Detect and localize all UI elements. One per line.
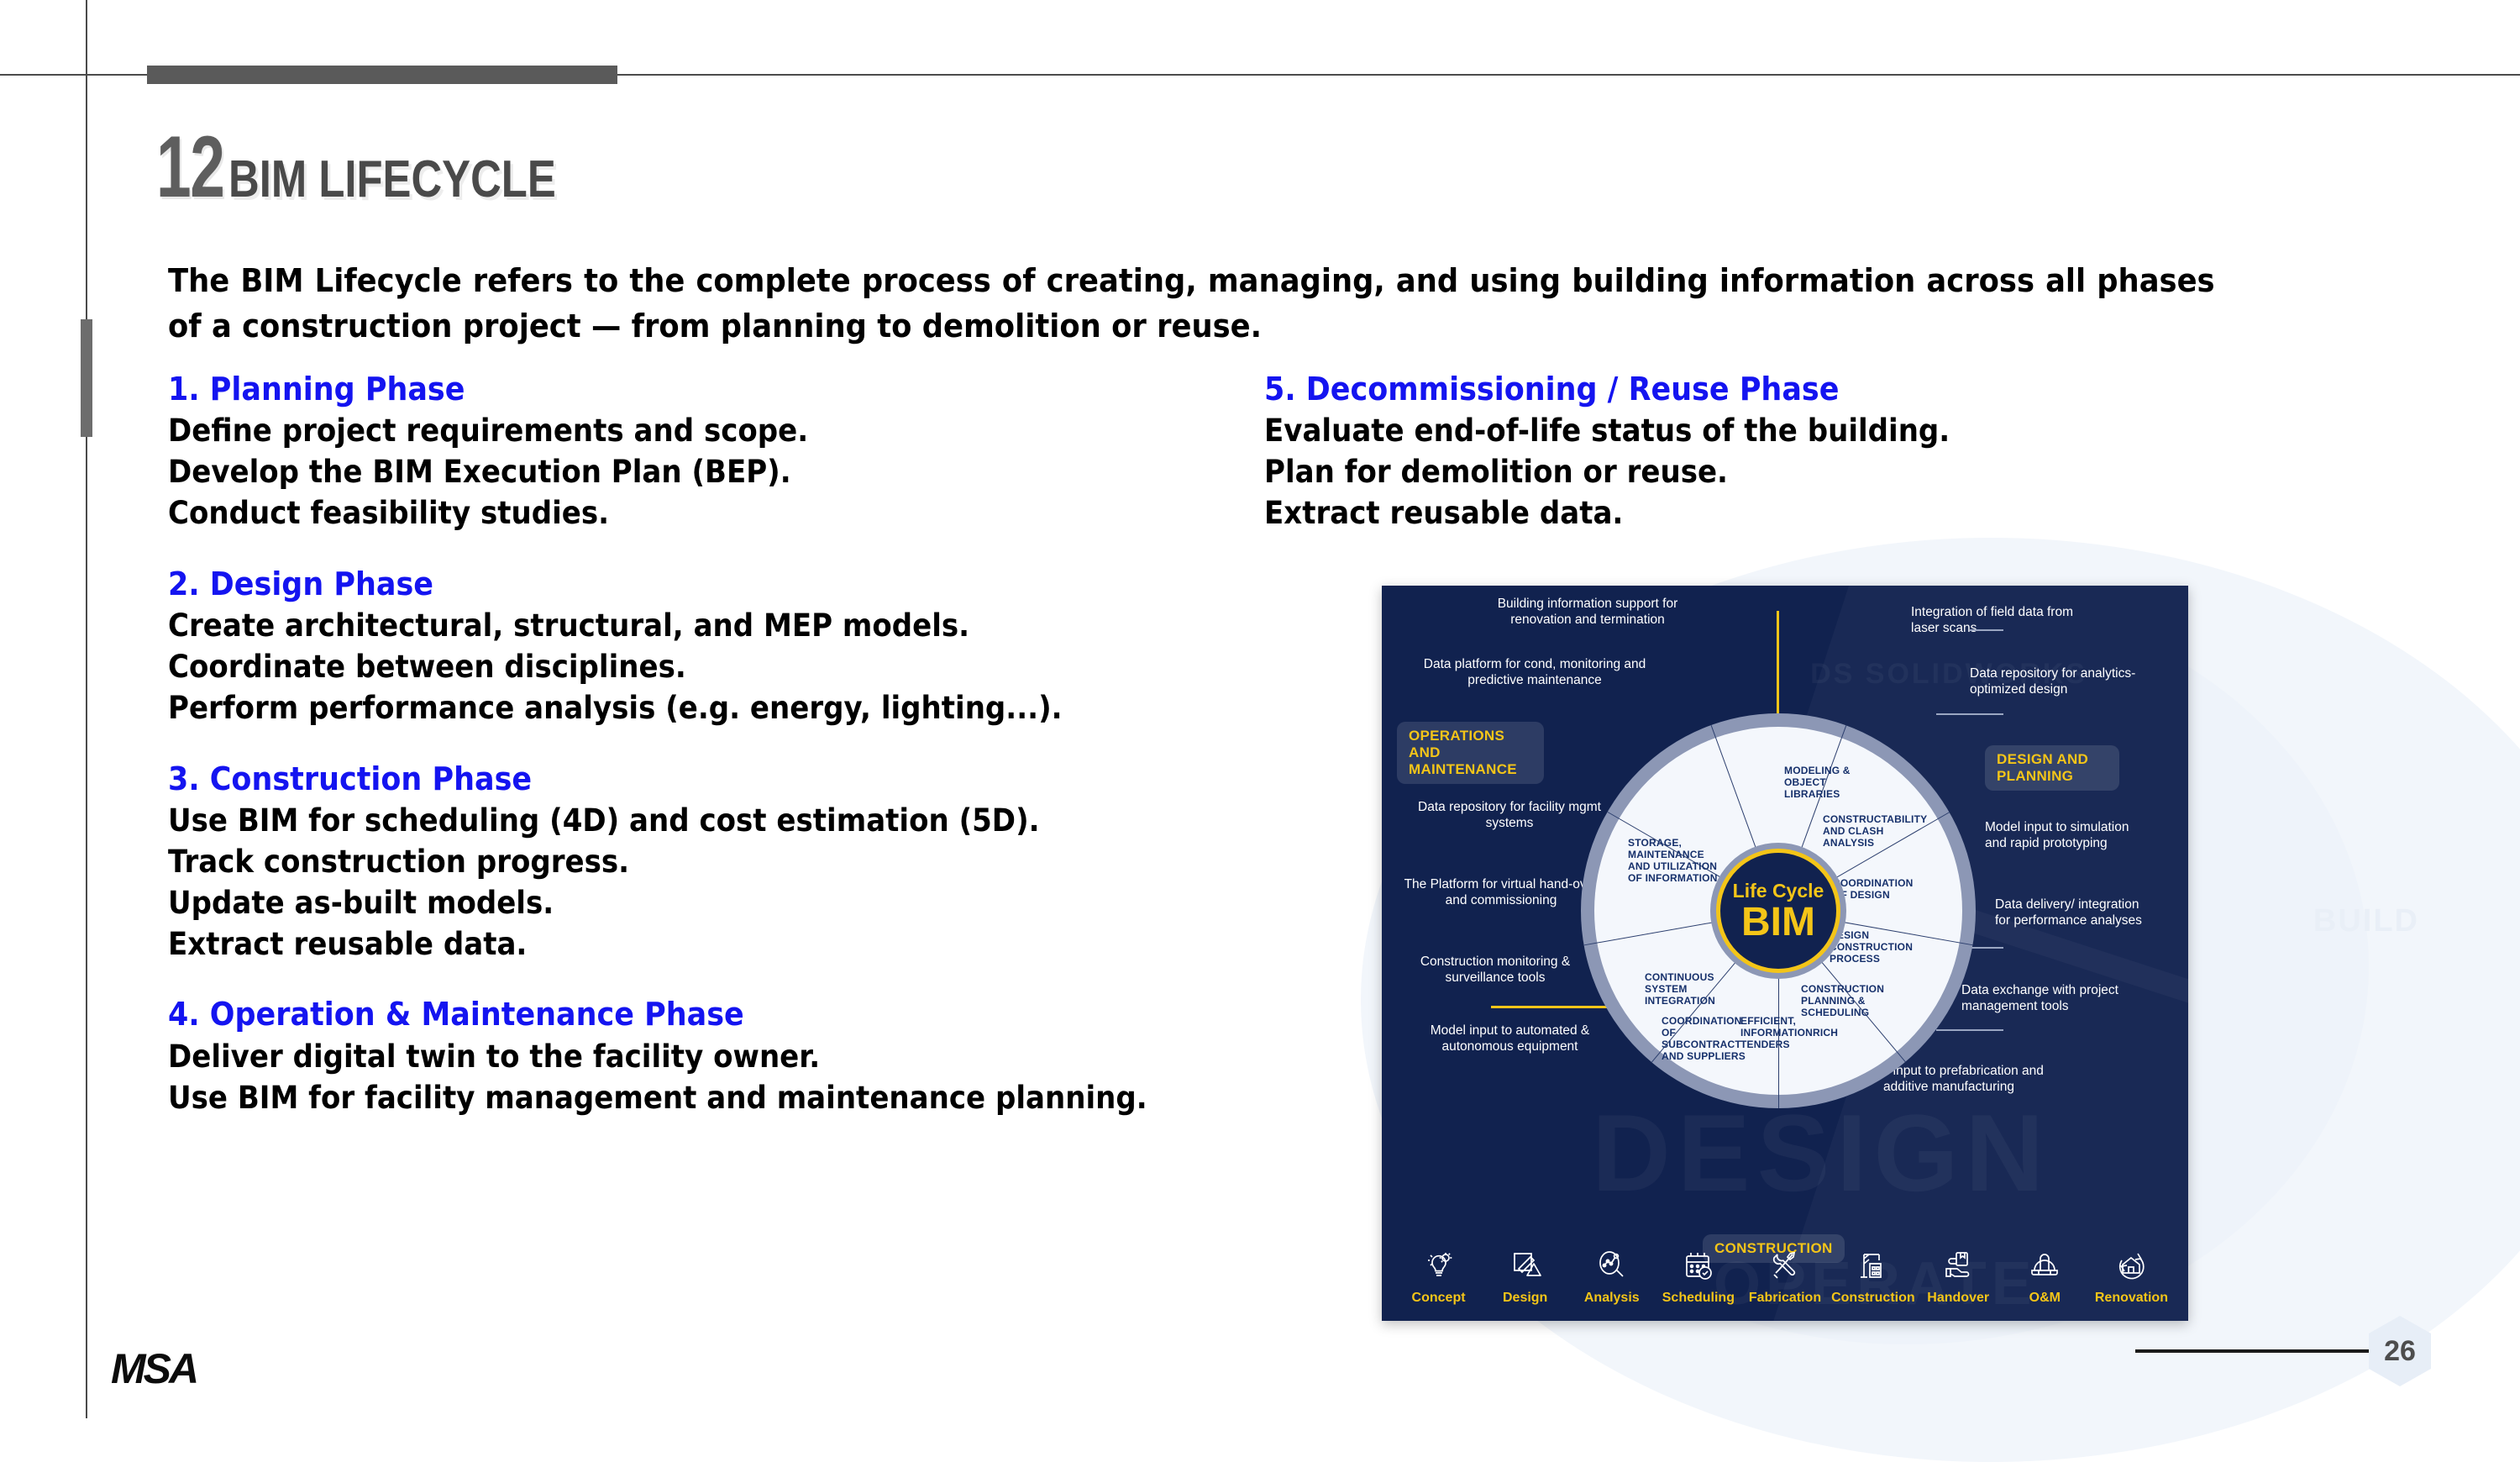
segment-modeling-object-libraries: MODELING & OBJECT LIBRARIES <box>1784 765 1856 801</box>
design-icon <box>1507 1247 1544 1284</box>
hub-life-cycle-label: Life Cycle <box>1733 880 1824 902</box>
chapter-number: 12 <box>156 118 223 218</box>
icon-label: Analysis <box>1572 1291 1652 1306</box>
bim-lifecycle-diagram: DS SOLIDWORKS DESIGN OPERATE Building in… <box>1382 586 2188 1321</box>
outer-label-simulation-input: Model input to simulation and rapid prot… <box>1985 819 2153 852</box>
left-column: 1. Planning Phase Define project require… <box>168 370 1252 1149</box>
phase-heading: 2. Design Phase <box>168 565 1165 603</box>
icon-label: O&M <box>2004 1291 2085 1306</box>
phase-line: Update as-built models. <box>168 883 1165 924</box>
phase-line: Use BIM for facility management and main… <box>168 1078 1165 1119</box>
phase-icon-strip: Concept Design <box>1382 1247 2188 1306</box>
connector-top-yellow <box>1777 611 1779 720</box>
icon-item-concept[interactable]: Concept <box>1399 1247 1479 1306</box>
icon-label: Fabrication <box>1745 1291 1825 1306</box>
phase-line: Use BIM for scheduling (4D) and cost est… <box>168 801 1165 842</box>
outer-label-data-exchange: Data exchange with project management to… <box>1961 982 2155 1015</box>
icon-label: Renovation <box>2091 1291 2171 1306</box>
icon-item-fabrication[interactable]: Fabrication <box>1745 1247 1825 1306</box>
outer-label-field-data: Integration of field data from laser sca… <box>1911 604 2104 637</box>
slide: M BUILD 12 BIM LIFECYCLE The BIM Lifecyc… <box>0 0 2520 1418</box>
phase-line: Extract reusable data. <box>168 924 1165 965</box>
segment-storage-maintenance-utilization: STORAGE, MAINTENANCE AND UTILIZATION OF … <box>1628 838 1720 885</box>
icon-item-renovation[interactable]: Renovation <box>2091 1247 2171 1306</box>
phase-heading: 1. Planning Phase <box>168 370 1165 408</box>
outer-label-data-platform: Data platform for cond, monitoring and p… <box>1417 656 1652 689</box>
outer-label-construction-monitoring: Construction monitoring & surveillance t… <box>1390 954 1600 986</box>
segment-design-construction-process: DESIGN CONSTRUCTION PROCESS <box>1830 930 1907 965</box>
title-accent-bar <box>147 66 617 84</box>
icon-label: Design <box>1485 1291 1566 1306</box>
om-icon <box>2026 1247 2063 1284</box>
segment-efficient-tenders: EFFICIENT, INFORMATIONRICH TENDERS <box>1740 1016 1816 1051</box>
phase-line: Plan for demolition or reuse. <box>1264 452 2192 493</box>
ghost-watermark-build: BUILD <box>2313 903 2419 939</box>
icon-item-construction[interactable]: Construction <box>1831 1247 1912 1306</box>
phase-line: Deliver digital twin to the facility own… <box>168 1037 1165 1078</box>
hub-bim-label: BIM <box>1741 902 1815 943</box>
pill-design-planning: DESIGN AND PLANNING <box>1985 745 2119 791</box>
connector-field-data <box>1970 629 2003 631</box>
phase-heading: 4. Operation & Maintenance Phase <box>168 995 1165 1033</box>
fabrication-icon <box>1767 1247 1803 1284</box>
icon-item-handover[interactable]: Handover <box>1918 1247 1998 1306</box>
scheduling-icon <box>1680 1247 1717 1284</box>
phase-block-4: 4. Operation & Maintenance Phase Deliver… <box>168 995 1252 1118</box>
icon-item-analysis[interactable]: Analysis <box>1572 1247 1652 1306</box>
msa-logo: MSA <box>111 1344 197 1393</box>
icon-label: Concept <box>1399 1291 1479 1306</box>
phase-line: Develop the BIM Execution Plan (BEP). <box>168 452 1165 493</box>
construction-icon <box>1853 1247 1890 1284</box>
icon-label: Scheduling <box>1658 1291 1739 1306</box>
wheel-hub: Life Cycle BIM <box>1716 849 1840 973</box>
phase-line: Create architectural, structural, and ME… <box>168 606 1165 647</box>
segment-constructability-clash: CONSTRUCTABILITY AND CLASH ANALYSIS <box>1823 814 1903 849</box>
icon-label: Construction <box>1831 1291 1912 1306</box>
outer-label-virtual-handover: The Platform for virtual hand-over and c… <box>1400 876 1602 909</box>
lifecycle-wheel: MODELING & OBJECT LIBRARIES CONSTRUCTABI… <box>1581 713 1976 1108</box>
phase-heading: 5. Decommissioning / Reuse Phase <box>1264 370 2192 408</box>
icon-item-scheduling[interactable]: Scheduling <box>1658 1247 1739 1306</box>
icon-item-om[interactable]: O&M <box>2004 1247 2085 1306</box>
phase-block-5: 5. Decommissioning / Reuse Phase Evaluat… <box>1264 370 2272 534</box>
left-accent-tab <box>81 319 92 437</box>
phase-heading: 3. Construction Phase <box>168 760 1165 798</box>
analysis-icon <box>1593 1247 1630 1284</box>
phase-block-2: 2. Design Phase Create architectural, st… <box>168 565 1252 729</box>
segment-coordination-of-design: COORDINATION OF DESIGN <box>1833 878 1917 902</box>
right-column: 5. Decommissioning / Reuse Phase Evaluat… <box>1264 370 2272 565</box>
page-header: 12 BIM LIFECYCLE <box>156 118 627 218</box>
phase-line: Coordinate between disciplines. <box>168 647 1165 688</box>
segment-construction-planning-scheduling: CONSTRUCTION PLANNING & SCHEDULING <box>1801 984 1882 1019</box>
outer-label-analytics-repository: Data repository for analytics-optimized … <box>1970 665 2146 698</box>
phase-block-3: 3. Construction Phase Use BIM for schedu… <box>168 760 1252 965</box>
phase-line: Evaluate end-of-life status of the build… <box>1264 411 2192 452</box>
phase-line: Track construction progress. <box>168 842 1165 883</box>
footer-rule <box>2135 1349 2372 1353</box>
left-rule <box>86 0 87 1418</box>
phase-line: Perform performance analysis (e.g. energ… <box>168 688 1165 729</box>
phase-block-1: 1. Planning Phase Define project require… <box>168 370 1252 534</box>
pill-operations-maintenance: OPERATIONS AND MAINTENANCE <box>1397 722 1544 784</box>
phase-line: Define project requirements and scope. <box>168 411 1165 452</box>
outer-label-renovation-support: Building information support for renovat… <box>1483 596 1693 628</box>
phase-line: Conduct feasibility studies. <box>168 493 1165 534</box>
segment-coordination-subcontract: COORDINATION OF SUBCONTRACT AND SUPPLIER… <box>1662 1016 1746 1063</box>
icon-item-design[interactable]: Design <box>1485 1247 1566 1306</box>
intro-paragraph: The BIM Lifecycle refers to the complete… <box>168 259 2215 350</box>
page-title: BIM LIFECYCLE <box>228 150 556 209</box>
phase-line: Extract reusable data. <box>1264 493 2192 534</box>
renovation-icon <box>2113 1247 2150 1284</box>
icon-label: Handover <box>1918 1291 1998 1306</box>
watermark-design: DESIGN <box>1592 1090 2050 1216</box>
segment-continuous-system-integration: CONTINUOUS SYSTEM INTEGRATION <box>1645 972 1717 1007</box>
handover-icon <box>1940 1247 1977 1284</box>
concept-icon <box>1420 1247 1457 1284</box>
outer-label-performance-analyses: Data delivery/ integration for performan… <box>1995 897 2155 929</box>
outer-label-facility-mgmt-repository: Data repository for facility mgmt system… <box>1409 799 1610 832</box>
